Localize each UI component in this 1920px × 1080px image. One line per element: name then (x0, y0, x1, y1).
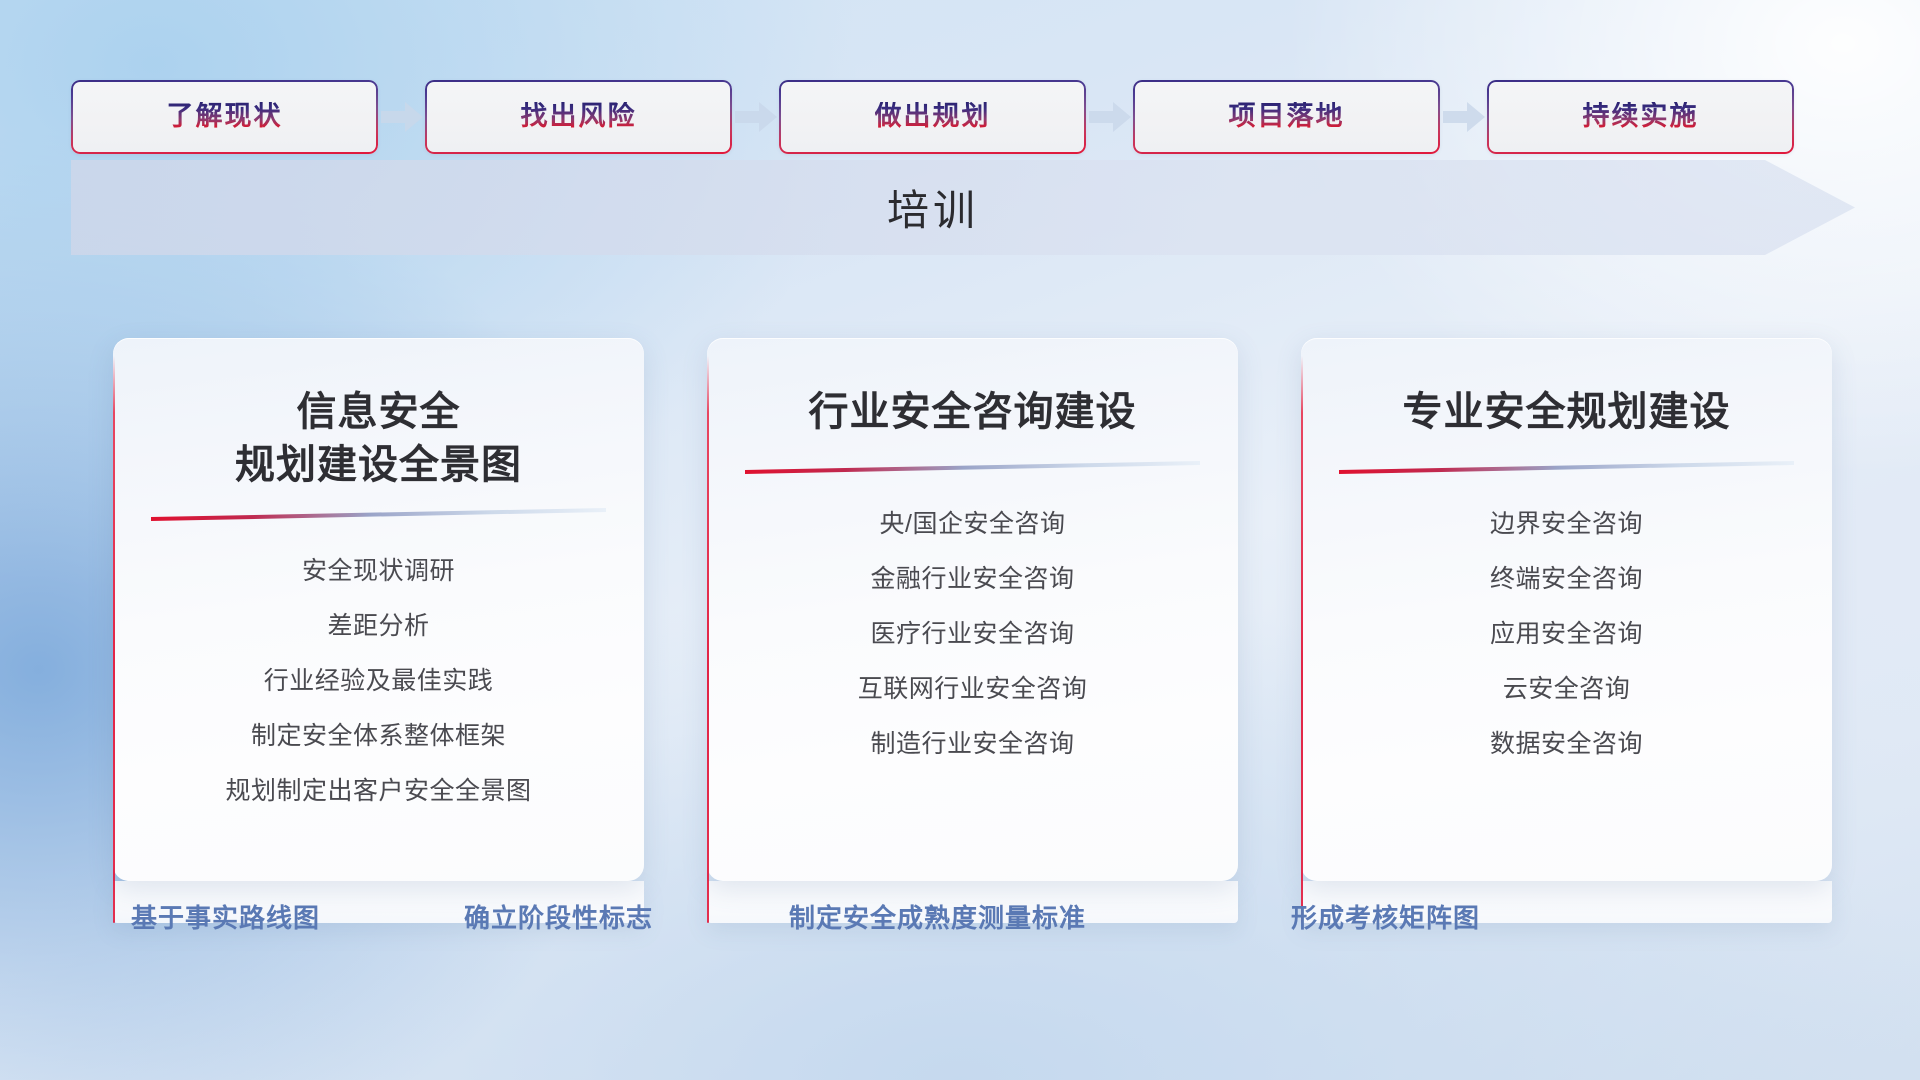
card-divider (745, 461, 1200, 474)
list-item: 边界安全咨询 (1490, 504, 1643, 540)
list-item: 金融行业安全咨询 (870, 559, 1074, 595)
card-title: 行业安全咨询建设 (809, 386, 1137, 439)
step-label: 找出风险 (521, 102, 637, 132)
card-industry-consulting[interactable]: 行业安全咨询建设 央/国企安全咨询 金融行业安全咨询 医疗行业安全咨询 (707, 338, 1238, 881)
step-label: 持续实施 (1583, 102, 1699, 132)
card-panorama[interactable]: 信息安全 规划建设全景图 安全现状调研 差距分析 行业经验及最佳实践 (113, 338, 644, 881)
process-step-row: 了解现状 找出风险 做出规划 项目落地 持续实施 (0, 80, 1920, 154)
list-item: 医疗行业安全咨询 (870, 614, 1074, 650)
card-divider (151, 508, 606, 521)
step-chip-1[interactable]: 找出风险 (425, 80, 732, 154)
footer-caption: 制定安全成熟度测量标准 (789, 898, 1086, 935)
footer-caption: 形成考核矩阵图 (1291, 898, 1480, 935)
step-label: 了解现状 (167, 102, 283, 132)
list-item: 差距分析 (327, 606, 429, 642)
card-divider (1339, 461, 1794, 474)
footer-caption: 基于事实路线图 (131, 898, 320, 935)
list-item: 终端安全咨询 (1490, 559, 1643, 595)
footer-caption-row: 基于事实路线图 确立阶段性标志 制定安全成熟度测量标准 形成考核矩阵图 (0, 898, 1920, 958)
step-chip-4[interactable]: 持续实施 (1487, 80, 1794, 154)
step-label: 做出规划 (875, 102, 991, 132)
list-item: 央/国企安全咨询 (880, 504, 1066, 540)
list-item: 行业经验及最佳实践 (264, 661, 494, 697)
card-item-list: 安全现状调研 差距分析 行业经验及最佳实践 制定安全体系整体框架 规划制定出客户… (225, 551, 531, 807)
list-item: 制定安全体系整体框架 (251, 716, 506, 752)
list-item: 云安全咨询 (1503, 669, 1631, 705)
card-professional-planning[interactable]: 专业安全规划建设 边界安全咨询 终端安全咨询 应用安全咨询 云安全 (1301, 338, 1832, 881)
slide-root: { "steps": { "items": [ { "label": "了解现状… (0, 0, 1920, 1080)
banner-label: 培训 (71, 160, 1855, 255)
list-item: 安全现状调研 (302, 551, 455, 587)
card-title: 专业安全规划建设 (1403, 386, 1731, 439)
arrow-right-block-icon (378, 80, 425, 154)
card-item-list: 边界安全咨询 终端安全咨询 应用安全咨询 云安全咨询 数据安全咨询 (1490, 504, 1643, 760)
list-item: 互联网行业安全咨询 (858, 669, 1088, 705)
arrow-right-block-icon (1086, 80, 1133, 154)
card-row: 信息安全 规划建设全景图 安全现状调研 差距分析 行业经验及最佳实践 (0, 338, 1920, 881)
list-item: 应用安全咨询 (1490, 614, 1643, 650)
step-label: 项目落地 (1229, 102, 1345, 132)
list-item: 制造行业安全咨询 (870, 724, 1074, 760)
training-banner: 培训 (71, 160, 1855, 255)
card-item-list: 央/国企安全咨询 金融行业安全咨询 医疗行业安全咨询 互联网行业安全咨询 制造行… (858, 504, 1088, 760)
list-item: 数据安全咨询 (1490, 724, 1643, 760)
arrow-right-block-icon (1440, 80, 1487, 154)
card-title: 信息安全 规划建设全景图 (235, 386, 522, 492)
list-item: 规划制定出客户安全全景图 (225, 771, 531, 807)
step-chip-3[interactable]: 项目落地 (1133, 80, 1440, 154)
step-chip-0[interactable]: 了解现状 (71, 80, 378, 154)
step-chip-2[interactable]: 做出规划 (779, 80, 1086, 154)
footer-caption: 确立阶段性标志 (464, 898, 653, 935)
arrow-right-block-icon (732, 80, 779, 154)
